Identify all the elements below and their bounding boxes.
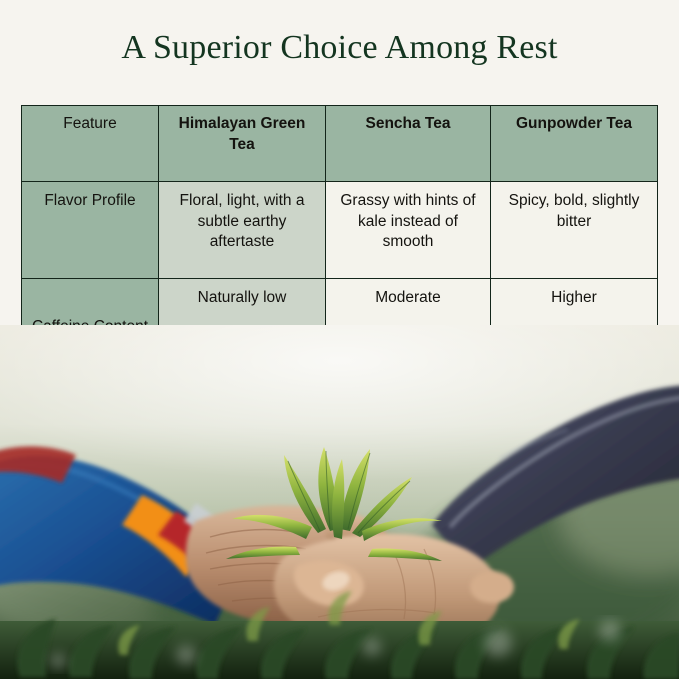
page-title-region: A Superior Choice Among Rest xyxy=(0,0,679,96)
column-header-gunpowder-tea: Gunpowder Tea xyxy=(491,106,658,182)
column-header-sencha-tea: Sencha Tea xyxy=(326,106,491,182)
cell-flavor-gunpowder: Spicy, bold, slightly bitter xyxy=(491,182,658,279)
comparison-infographic: A Superior Choice Among Rest Feature Him… xyxy=(0,0,679,679)
hero-photo-illustration xyxy=(0,325,679,679)
hero-photo xyxy=(0,325,679,679)
younger-knuckle xyxy=(470,571,514,603)
page-title: A Superior Choice Among Rest xyxy=(121,29,557,67)
column-header-feature: Feature xyxy=(22,106,159,182)
cell-flavor-sencha: Grassy with hints of kale instead of smo… xyxy=(326,182,491,279)
table-header-row: Feature Himalayan Green Tea Sencha Tea G… xyxy=(22,106,658,182)
table-header: Feature Himalayan Green Tea Sencha Tea G… xyxy=(22,106,658,182)
row-header-flavor-profile: Flavor Profile xyxy=(22,182,159,279)
table-row: Flavor Profile Floral, light, with a sub… xyxy=(22,182,658,279)
cell-flavor-himalayan: Floral, light, with a subtle earthy afte… xyxy=(159,182,326,279)
column-header-himalayan-green-tea: Himalayan Green Tea xyxy=(159,106,326,182)
